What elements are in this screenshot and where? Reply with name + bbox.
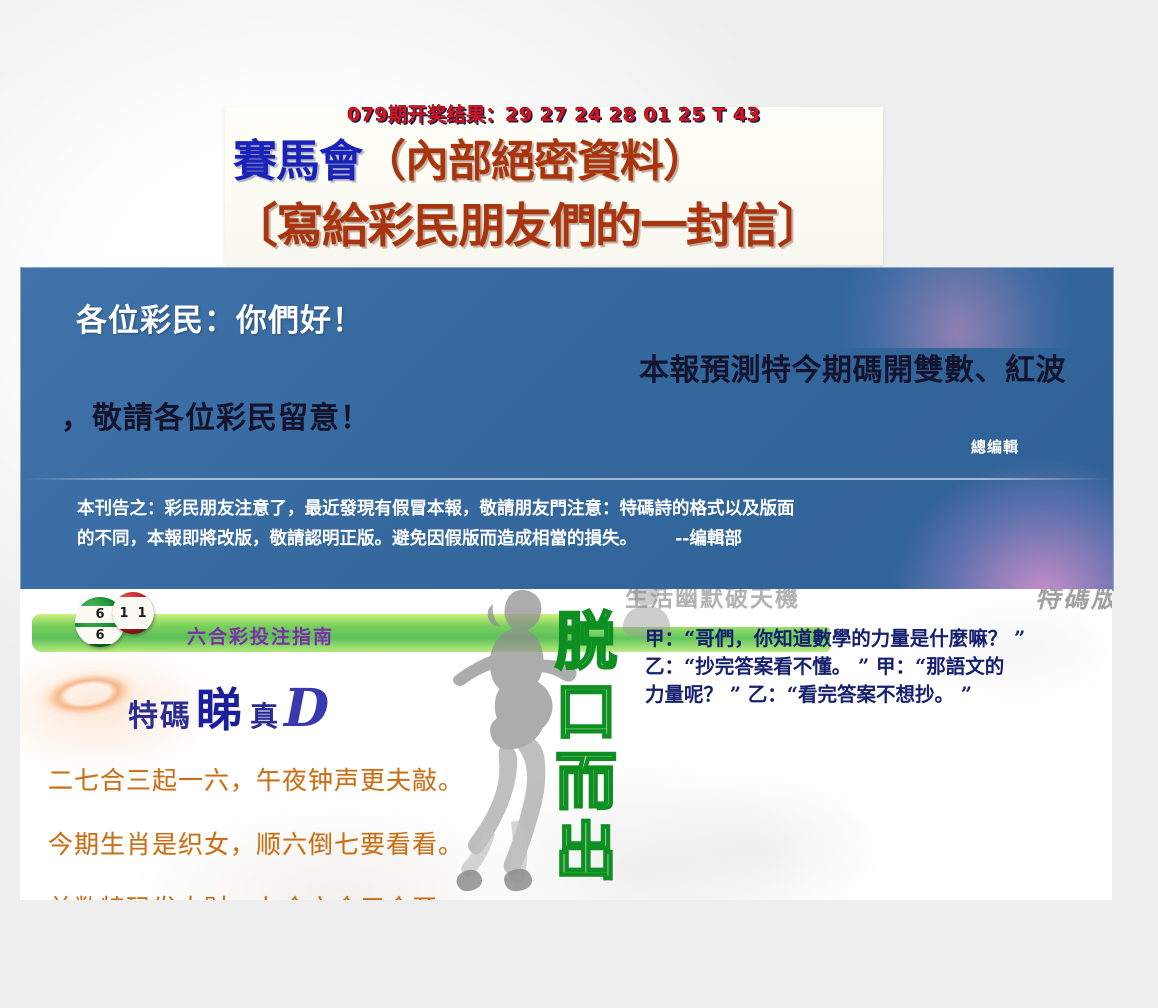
- poem-line-1: 二七合三起一六，午夜钟声更夫敲。: [48, 761, 518, 797]
- vertical-slogan: 脱 口 而 出: [547, 607, 625, 887]
- title-line-1: 賽馬會（內部絕密資料）: [233, 125, 875, 189]
- draw-results-strip: 079期开奖结果：29 27 24 28 01 25 T 43: [225, 98, 883, 128]
- lower-content-panel: 六合彩投注指南 6 6 1 1 特碼 睇 真 D: [20, 589, 1112, 900]
- title-line-2: 〔寫給彩民朋友們的一封信〕: [231, 187, 881, 256]
- ball-green-bottom-number: 6: [75, 627, 125, 644]
- brand-logo-letter: D: [284, 688, 329, 730]
- brand-logo-prefix: 特碼: [128, 691, 192, 735]
- brand-logo-main: 睇: [196, 674, 242, 740]
- prediction-poem: 二七合三起一六，午夜钟声更夫敲。 今期生肖是织女，顺六倒七要看看。 单数特码发大…: [48, 761, 518, 900]
- panel-divider: [21, 478, 1113, 480]
- title-subtitle-text: （內部絕密資料）: [362, 136, 706, 187]
- ball-red-numbers: 1 1: [112, 597, 154, 629]
- panel-glow-top-right: [843, 267, 1073, 348]
- letter-signature: 總编輯: [971, 436, 1019, 457]
- fine-print-block: 本刊告之：彩民朋友注意了，最近發現有假冒本報，敬請朋友門注意：特碼詩的格式以及版…: [77, 494, 1097, 554]
- fine-print-line-2-wrap: 的不同，本報即將改版，敬請認明正版。避免因假版而造成相當的損失。--编輯部: [77, 524, 1097, 554]
- title-brand-text: 賽馬會: [233, 136, 362, 187]
- fine-print-line-1: 本刊告之：彩民朋友注意了，最近發現有假冒本報，敬請朋友門注意：特碼詩的格式以及版…: [77, 494, 1097, 524]
- letter-greeting: 各位彩民：你們好！: [76, 295, 364, 340]
- poem-line-3: 单数特码发大财，九合六合五合开。: [48, 889, 518, 900]
- poster-canvas: 079期开奖结果：29 27 24 28 01 25 T 43 賽馬會（內部絕密…: [0, 0, 1158, 1008]
- letter-notice-continuation: ，敬請各位彩民留意！: [61, 393, 371, 437]
- vertical-slogan-char-1: 脱: [555, 607, 617, 677]
- lottery-ball-red-icon: 1 1: [112, 592, 154, 634]
- vertical-slogan-char-3: 而: [555, 747, 617, 817]
- letter-prediction: 本報預測特今期碼開雙數、紅波: [639, 345, 1066, 389]
- vertical-slogan-char-2: 口: [555, 677, 617, 747]
- fine-print-department: --编輯部: [675, 529, 742, 549]
- joke-section-watermark: 生活幽默破天機: [625, 589, 925, 625]
- brand-logo-suffix: 真: [250, 695, 278, 735]
- brand-logo: 特碼 睇 真 D: [128, 674, 329, 740]
- edition-tag: 特碼版: [1035, 589, 1112, 615]
- draw-results-text: 079期开奖结果：29 27 24 28 01 25 T 43: [347, 100, 761, 127]
- joke-line-3: 力量呢？ ” 乙：“看完答案不想抄。 ”: [645, 681, 1112, 709]
- ball-red-left-number: 1: [119, 606, 128, 621]
- title-card: 賽馬會（內部絕密資料） 〔寫給彩民朋友們的一封信〕: [225, 107, 883, 265]
- vertical-slogan-char-4: 出: [555, 817, 617, 887]
- letter-panel: 各位彩民：你們好！ 本報預測特今期碼開雙數、紅波 ，敬請各位彩民留意！ 總编輯 …: [20, 267, 1114, 591]
- guide-banner-label: 六合彩投注指南: [187, 622, 334, 649]
- joke-dialogue: 甲：“哥們，你知道數學的力量是什麼嘛？ ” 乙：“抄完答案看不懂。 ” 甲：“那…: [645, 625, 1112, 709]
- poem-line-2: 今期生肖是织女，顺六倒七要看看。: [48, 825, 518, 861]
- joke-line-1: 甲：“哥們，你知道數學的力量是什麼嘛？ ”: [645, 625, 1112, 653]
- ball-red-right-number: 1: [138, 606, 147, 621]
- fine-print-line-2: 的不同，本報即將改版，敬請認明正版。避免因假版而造成相當的損失。: [77, 529, 637, 549]
- joke-line-2: 乙：“抄完答案看不懂。 ” 甲：“那語文的: [645, 653, 1112, 681]
